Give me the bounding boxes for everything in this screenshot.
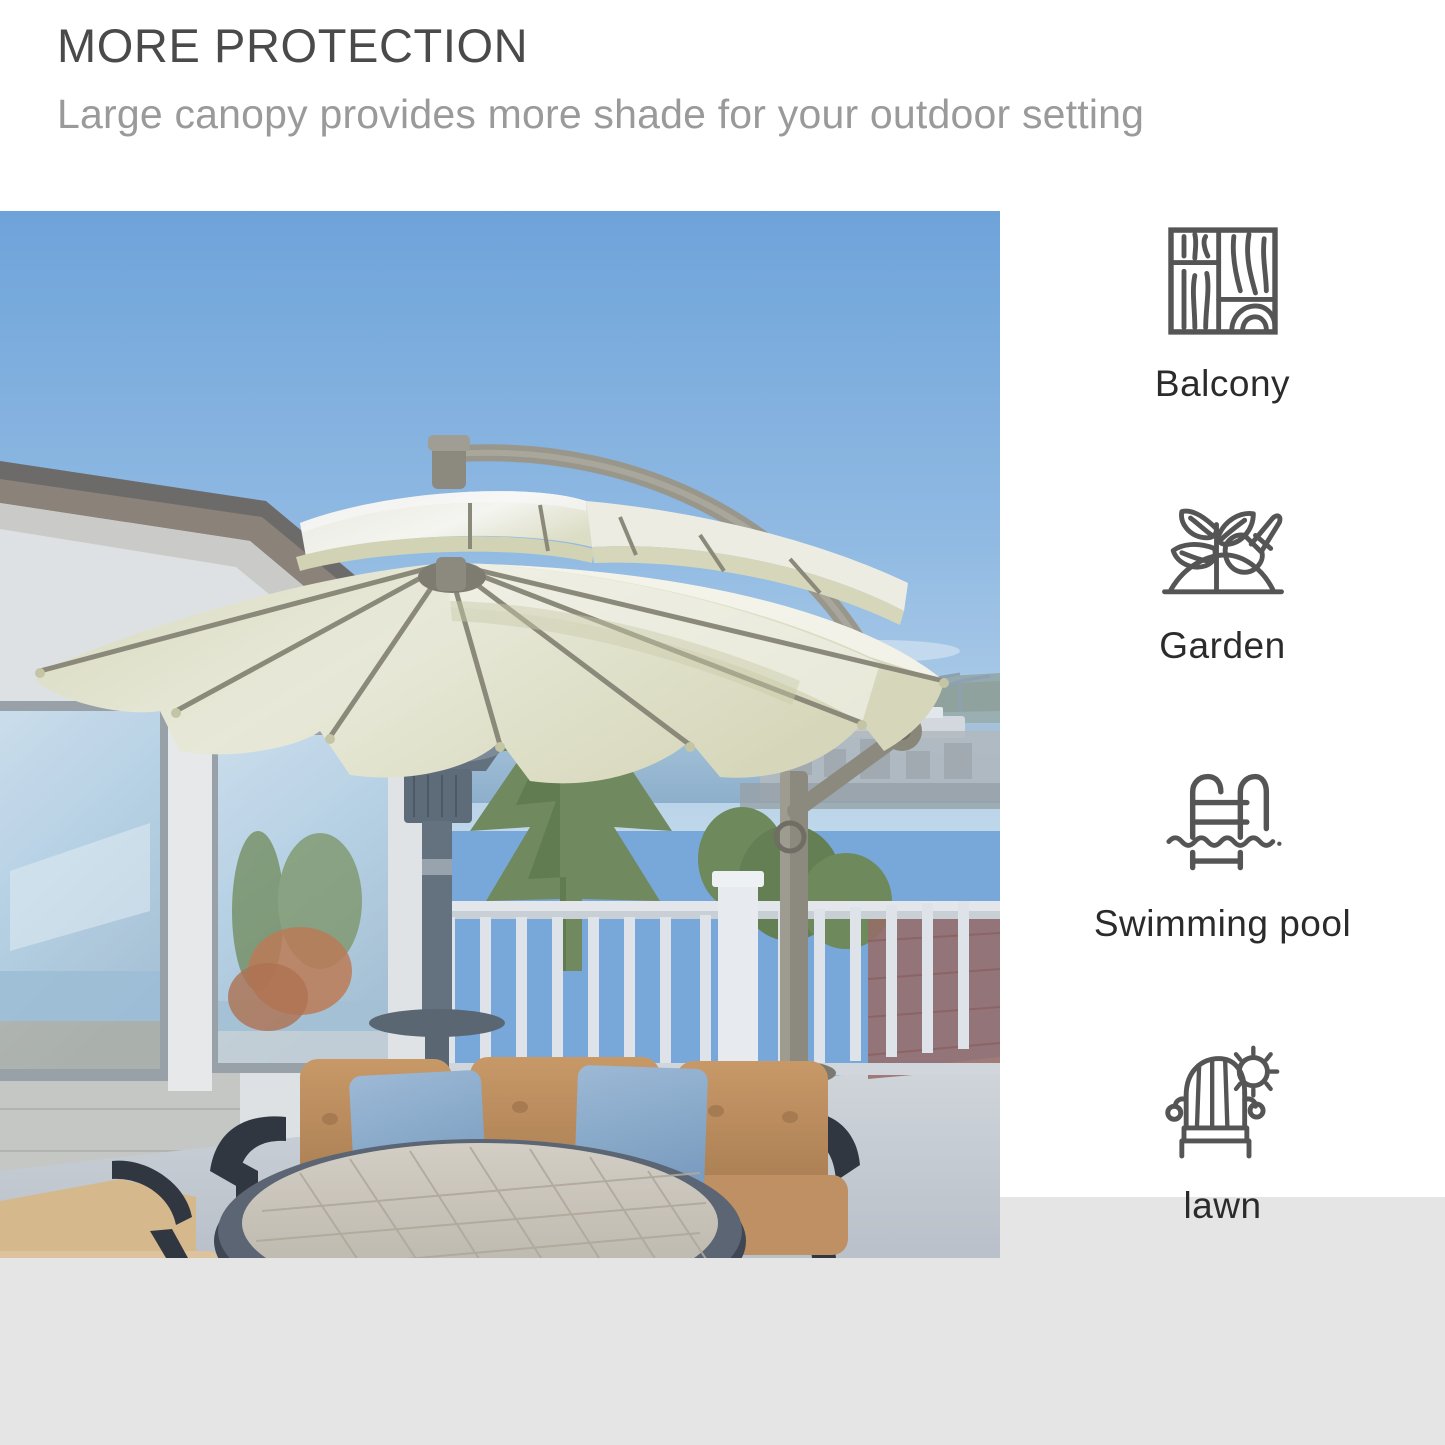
wood-deck-icon [1158, 221, 1288, 341]
page-title: MORE PROTECTION [57, 22, 1357, 69]
plant-trowel-icon [1158, 483, 1288, 603]
page-subtitle: Large canopy provides more shade for you… [57, 94, 1357, 135]
adirondack-chair-sun-icon [1158, 1043, 1288, 1163]
feature-label: Swimming pool [1094, 903, 1351, 945]
feature-label: Balcony [1155, 363, 1290, 405]
marketing-feature-page: MORE PROTECTION Large canopy provides mo… [0, 0, 1445, 1445]
feature-item-garden: Garden [1000, 483, 1445, 667]
feature-item-balcony: Balcony [1000, 221, 1445, 405]
feature-label: lawn [1183, 1185, 1261, 1227]
product-lifestyle-photo [0, 211, 1000, 1258]
feature-list: Balcony [1000, 211, 1445, 1341]
header: MORE PROTECTION Large canopy provides mo… [57, 22, 1357, 135]
feature-item-lawn: lawn [1000, 1043, 1445, 1227]
feature-item-swimming-pool: Swimming pool [1000, 761, 1445, 945]
feature-label: Garden [1159, 625, 1285, 667]
pool-ladder-icon [1158, 761, 1288, 881]
